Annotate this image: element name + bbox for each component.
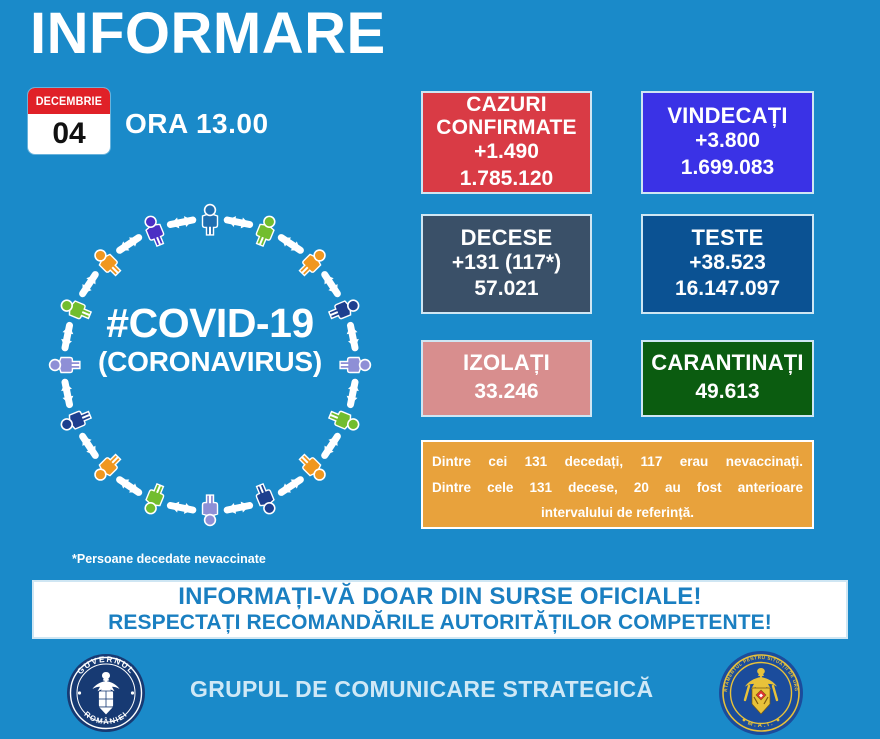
stat-box-cazuri-confirmate: CAZURI CONFIRMATE +1.490 1.785.120 [421, 91, 592, 194]
footnote: *Persoane decedate nevaccinate [72, 552, 266, 566]
stat-total: 1.699.083 [681, 155, 774, 181]
banner-line-1: INFORMAȚI-VĂ DOAR DIN SURSE OFICIALE! [178, 584, 701, 610]
banner-line-2: RESPECTAȚI RECOMANDĂRILE AUTORITĂȚILOR C… [108, 611, 772, 635]
infographic-page: INFORMARE DECEMBRIE 04 ORA 13.00 #COVID-… [0, 0, 880, 739]
stat-total: 57.021 [474, 276, 538, 302]
calendar-day-label: 04 [52, 119, 85, 149]
stat-delta: +38.523 [689, 250, 766, 276]
stat-label-line2: CONFIRMATE [436, 116, 576, 139]
stat-total: 16.147.097 [675, 276, 780, 302]
stat-total: 49.613 [695, 379, 759, 405]
page-title: INFORMARE [30, 4, 386, 65]
stat-label: VINDECAȚI [667, 104, 787, 128]
stat-box-teste: TESTE +38.523 16.147.097 [641, 214, 814, 314]
stat-label: CAZURI CONFIRMATE [436, 93, 576, 139]
dsu-mai-seal-icon: DEPARTAMENTUL PENTRU SITUAȚII DE URGENȚĂ… [718, 650, 804, 736]
calendar-day-body: 04 [28, 114, 110, 154]
calendar-month-label: DECEMBRIE [36, 94, 102, 108]
report-hour: ORA 13.00 [125, 108, 269, 140]
stat-label-line1: CAZURI [466, 93, 547, 116]
stat-label: CARANTINAȚI [651, 351, 804, 375]
footer-organization-name: GRUPUL DE COMUNICARE STRATEGICĂ [190, 676, 653, 703]
stat-box-vindecati: VINDECAȚI +3.800 1.699.083 [641, 91, 814, 194]
stat-delta: +3.800 [695, 128, 760, 154]
calendar-month-header: DECEMBRIE [28, 88, 110, 114]
stat-label: DECESE [461, 226, 553, 250]
calendar-icon: DECEMBRIE 04 [28, 88, 110, 154]
stat-label: TESTE [692, 226, 764, 250]
stat-delta: +131 (117*) [452, 250, 561, 276]
note-line-1: Dintre cei 131 decedați, 117 erau nevacc… [432, 449, 803, 475]
stat-total: 1.785.120 [460, 166, 553, 192]
official-sources-banner: INFORMAȚI-VĂ DOAR DIN SURSE OFICIALE! RE… [32, 580, 848, 639]
stat-label: IZOLAȚI [463, 351, 550, 375]
stat-delta: +1.490 [474, 139, 539, 165]
stat-box-izolati: IZOLAȚI 33.246 [421, 340, 592, 417]
people-circle-icon: #COVID-19 (CORONAVIRUS) [25, 185, 395, 545]
note-line-2: Dintre cele 131 decese, 20 au fost anter… [432, 475, 803, 501]
guvernul-romaniei-seal-icon: GUVERNUL ROMÂNIEI [66, 653, 146, 733]
vaccination-note: Dintre cei 131 decedați, 117 erau nevacc… [421, 440, 814, 529]
note-line-3: intervalului de referință. [432, 500, 803, 526]
stat-box-carantinati: CARANTINAȚI 49.613 [641, 340, 814, 417]
stat-total: 33.246 [474, 379, 538, 405]
stat-box-decese: DECESE +131 (117*) 57.021 [421, 214, 592, 314]
